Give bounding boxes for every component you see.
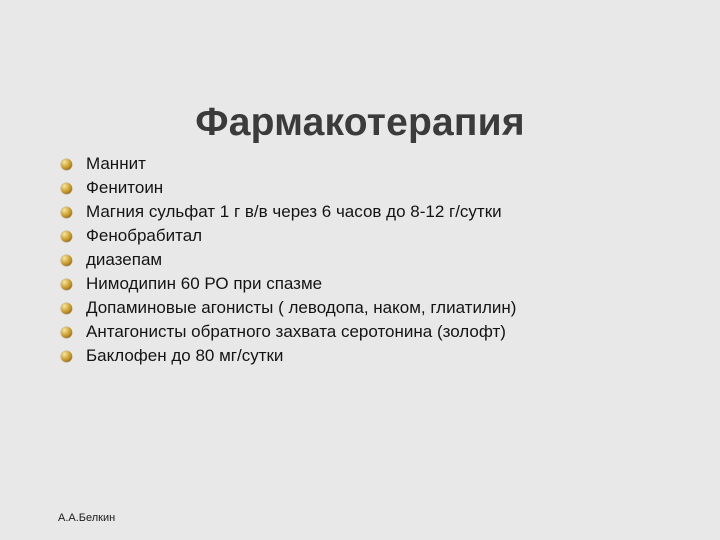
gold-sphere-bullet-icon [61, 327, 72, 338]
gold-sphere-bullet-icon [61, 303, 72, 314]
list-item: Фенобрабитал [56, 224, 676, 248]
list-item: Маннит [56, 152, 676, 176]
gold-sphere-bullet-icon [61, 207, 72, 218]
list-item-label: Баклофен до 80 мг/сутки [86, 346, 283, 365]
gold-sphere-bullet-icon [61, 183, 72, 194]
list-item: Допаминовые агонисты ( леводопа, наком, … [56, 296, 676, 320]
list-item-label: Фенобрабитал [86, 226, 202, 245]
gold-sphere-bullet-icon [61, 255, 72, 266]
therapy-bullet-list: Маннит Фенитоин Магния сульфат 1 г в/в ч… [56, 152, 676, 368]
list-item-label: диазепам [86, 250, 162, 269]
list-item: Магния сульфат 1 г в/в через 6 часов до … [56, 200, 676, 224]
list-item-label: Магния сульфат 1 г в/в через 6 часов до … [86, 202, 502, 221]
list-item: диазепам [56, 248, 676, 272]
gold-sphere-bullet-icon [61, 231, 72, 242]
page-title: Фармакотерапия [0, 100, 720, 146]
list-item-label: Нимодипин 60 РО при спазме [86, 274, 322, 293]
list-item: Фенитоин [56, 176, 676, 200]
list-item-label: Допаминовые агонисты ( леводопа, наком, … [86, 298, 516, 317]
list-item-label: Антагонисты обратного захвата серотонина… [86, 322, 506, 341]
list-item: Нимодипин 60 РО при спазме [56, 272, 676, 296]
gold-sphere-bullet-icon [61, 159, 72, 170]
presentation-slide: Фармакотерапия Маннит Фенитоин Магния су… [0, 0, 720, 540]
list-item-label: Маннит [86, 154, 146, 173]
list-item-label: Фенитоин [86, 178, 163, 197]
gold-sphere-bullet-icon [61, 279, 72, 290]
list-item: Антагонисты обратного захвата серотонина… [56, 320, 676, 344]
gold-sphere-bullet-icon [61, 351, 72, 362]
list-item: Баклофен до 80 мг/сутки [56, 344, 676, 368]
footer-author: А.А.Белкин [58, 511, 115, 525]
